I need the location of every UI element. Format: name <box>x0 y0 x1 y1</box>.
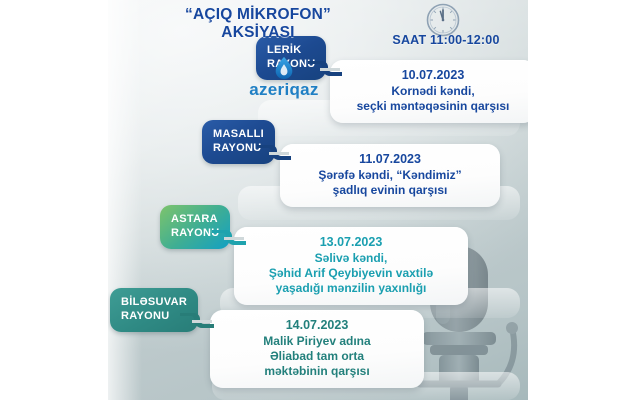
event-place-line: yaşadığı mənzilin yaxınlığı <box>246 281 456 296</box>
poster-image: “AÇIQ MİKROFON” AKSİYASI azeriqaz <box>108 0 528 400</box>
event-place-line: Səlivə kəndi, <box>246 251 456 266</box>
event-card-lerik[interactable]: 10.07.2023 Kornədi kəndi, seçki məntəqəs… <box>330 60 528 123</box>
brand-name: azeriqaz <box>228 81 340 99</box>
district-badge-bilasuvar[interactable]: BİLƏSUVAR RAYONU <box>110 288 198 332</box>
district-badge-line-1: BİLƏSUVAR <box>121 296 187 310</box>
district-badge-line-1: ASTARA <box>171 213 219 227</box>
event-date: 11.07.2023 <box>292 151 488 167</box>
event-place-line: məktəbinin qarşısı <box>222 364 412 379</box>
event-date: 14.07.2023 <box>222 317 412 333</box>
event-place-line: Əliabad tam orta <box>222 349 412 364</box>
district-badge-line-1: MASALLI <box>213 128 264 142</box>
event-place-line: Şərəfə kəndi, “Kəndimiz” <box>292 168 488 183</box>
title-line-1: “AÇIQ MİKROFON” <box>108 6 408 24</box>
connector-notch <box>212 228 246 245</box>
event-card-masalli[interactable]: 11.07.2023 Şərəfə kəndi, “Kəndimiz” şadl… <box>280 144 500 207</box>
brand-logo: azeriqaz <box>228 56 340 99</box>
background-sheen <box>108 0 142 400</box>
event-date: 10.07.2023 <box>342 67 524 83</box>
event-place-line: Kornədi kəndi, <box>342 84 524 99</box>
time-label: SAAT 11:00-12:00 <box>361 33 528 47</box>
event-card-bilasuvar[interactable]: 14.07.2023 Malik Piriyev adına Əliabad t… <box>210 310 424 388</box>
district-badge-masalli[interactable]: MASALLI RAYONU <box>202 120 275 164</box>
connector-notch <box>257 143 291 160</box>
page-root: “AÇIQ MİKROFON” AKSİYASI azeriqaz <box>0 0 637 400</box>
event-place-line: Malik Piriyev adına <box>222 334 412 349</box>
district-badge-astara[interactable]: ASTARA RAYONU <box>160 205 230 249</box>
event-card-astara[interactable]: 13.07.2023 Səlivə kəndi, Şəhid Arif Qeyb… <box>234 227 468 305</box>
connector-notch <box>180 311 214 328</box>
district-badge-line-2: RAYONU <box>121 310 187 324</box>
flame-icon <box>228 56 340 80</box>
event-date: 13.07.2023 <box>246 234 456 250</box>
event-place-line: seçki məntəqəsinin qarşısı <box>342 99 524 114</box>
event-place-line: Şəhid Arif Qeybiyevin vaxtilə <box>246 266 456 281</box>
event-place-line: şadlıq evinin qarşısı <box>292 183 488 198</box>
